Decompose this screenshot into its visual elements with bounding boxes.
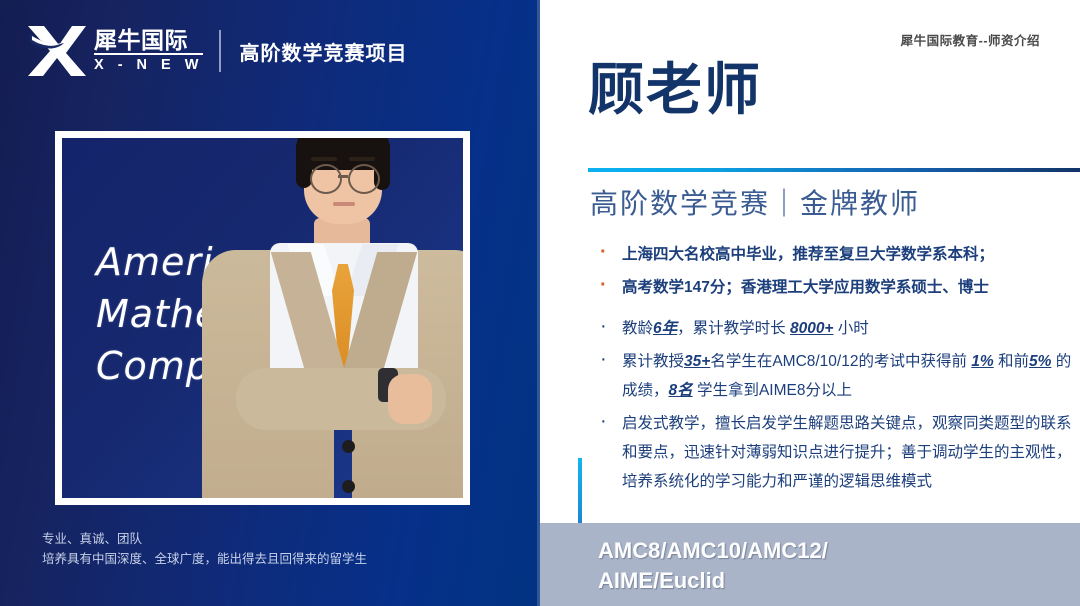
teacher-photo: Ameri Mathe Compe <box>62 138 463 498</box>
left-blue-panel: 犀牛国际 X - N E W 高阶数学竞赛项目 Ameri Mathe Comp… <box>0 0 540 606</box>
bullet-text: 累计教授35+名学生在AMC8/10/12的考试中获得前 1% 和前5% 的成绩… <box>622 353 1071 399</box>
teacher-photo-frame: Ameri Mathe Compe <box>55 131 470 505</box>
bullet-text: 教龄6年，累计教学时长 8000+ 小时 <box>622 320 869 337</box>
x-new-logo-icon <box>26 24 88 78</box>
jacket-button-top <box>342 440 355 453</box>
title-accent-divider <box>588 168 1080 172</box>
credentials-list: 上海四大名校高中毕业，推荐至复旦大学数学系本科； 高考数学147分；香港理工大学… <box>586 240 1072 500</box>
list-item: 启发式教学，擅长启发学生解题思路关键点，观察同类题型的联系和要点，迅速针对薄弱知… <box>586 409 1072 496</box>
list-item: 累计教授35+名学生在AMC8/10/12的考试中获得前 1% 和前5% 的成绩… <box>586 347 1072 405</box>
bullet-text: 高考数学147分；香港理工大学应用数学系硕士、博士 <box>622 279 989 296</box>
logo-wordmark: 犀牛国际 X - N E W <box>94 28 203 75</box>
teacher-subtitle: 高阶数学竞赛｜金牌教师 <box>590 182 920 222</box>
course-list-label: AMC8/AMC10/AMC12/ AIME/Euclid <box>598 536 828 596</box>
list-item: 教龄6年，累计教学时长 8000+ 小时 <box>586 314 1072 343</box>
right-content-panel: 犀牛国际教育--师资介绍 顾老师 高阶数学竞赛｜金牌教师 上海四大名校高中毕业，… <box>540 0 1080 606</box>
brand-logo: 犀牛国际 X - N E W 高阶数学竞赛项目 <box>26 22 407 80</box>
teacher-portrait-illustration <box>192 138 463 498</box>
course-footer-bar: AMC8/AMC10/AMC12/ AIME/Euclid <box>540 523 1080 606</box>
glasses-lens-left <box>310 164 342 194</box>
bullet-text: 上海四大名校高中毕业，推荐至复旦大学数学系本科； <box>622 246 994 263</box>
eyebrow-left <box>311 157 337 161</box>
mouth <box>333 202 355 206</box>
logo-english-name: X - N E W <box>94 57 203 74</box>
logo-divider <box>219 30 221 72</box>
slogan-line-1: 专业、真诚、团队 <box>42 529 367 549</box>
company-slogan: 专业、真诚、团队 培养具有中国深度、全球广度，能出得去且回得来的留学生 <box>42 529 367 569</box>
jacket-button-bottom <box>342 480 355 493</box>
eyebrow-right <box>349 157 375 161</box>
bullet-text: 启发式教学，擅长启发学生解题思路关键点，观察同类题型的联系和要点，迅速针对薄弱知… <box>622 415 1072 490</box>
list-item: 上海四大名校高中毕业，推荐至复旦大学数学系本科； <box>586 240 1072 269</box>
glasses-lens-right <box>348 164 380 194</box>
logo-chinese-name: 犀牛国际 <box>94 28 203 55</box>
brand-tagline: 高阶数学竞赛项目 <box>239 37 407 66</box>
slide-root: 犀牛国际 X - N E W 高阶数学竞赛项目 Ameri Mathe Comp… <box>0 0 1080 606</box>
teacher-name: 顾老师 <box>588 62 762 118</box>
corporate-header-label: 犀牛国际教育--师资介绍 <box>901 30 1040 49</box>
slogan-line-2: 培养具有中国深度、全球广度，能出得去且回得来的留学生 <box>42 549 367 569</box>
glasses-bridge <box>338 175 348 178</box>
list-item: 高考数学147分；香港理工大学应用数学系硕士、博士 <box>586 273 1072 302</box>
hand <box>388 374 432 424</box>
